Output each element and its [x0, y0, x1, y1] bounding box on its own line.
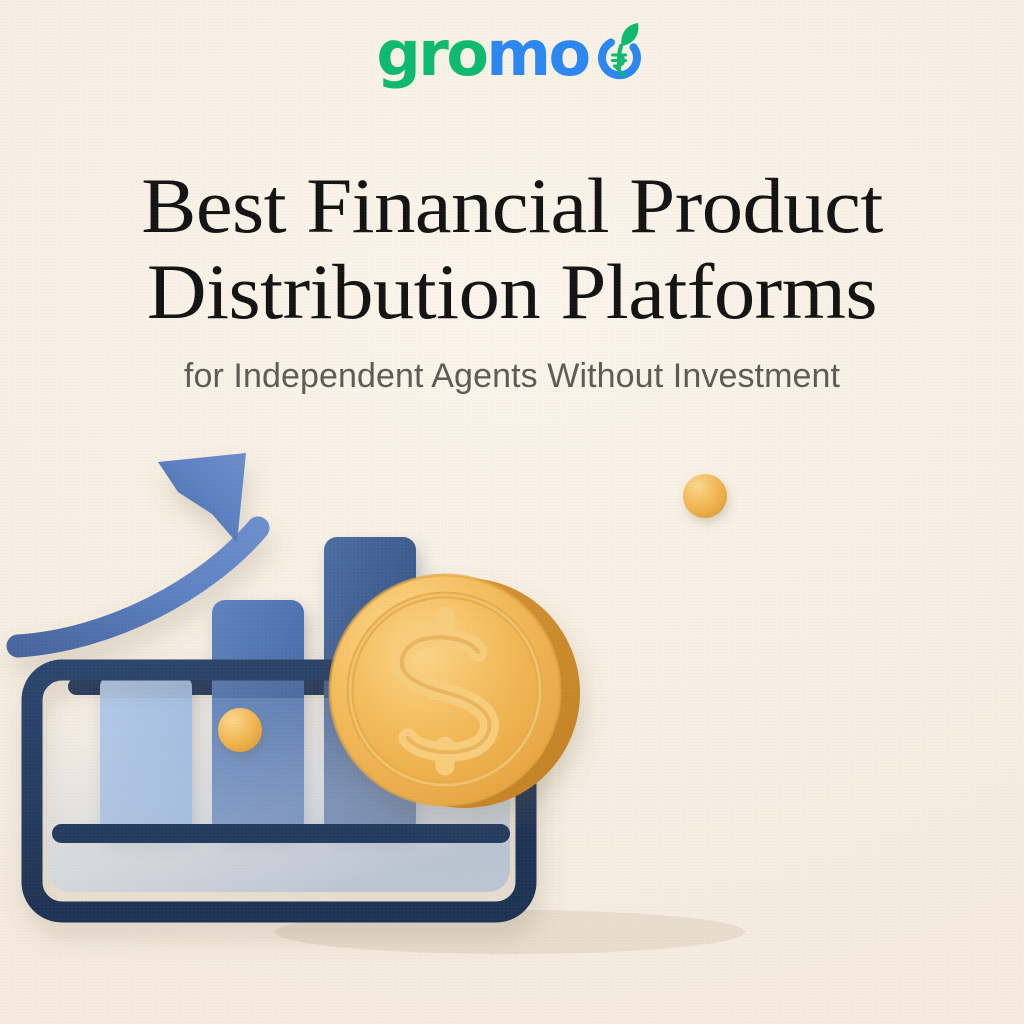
growth-chart-with-coin-illustration — [0, 440, 1024, 980]
logo-text-mo: mo — [486, 23, 588, 85]
headline-line-2: Distribution Platforms — [0, 254, 1024, 330]
dollar-coin-icon — [330, 575, 580, 808]
chart-baseline-rail — [52, 824, 510, 843]
headline-line-1: Best Financial Product — [0, 168, 1024, 244]
poster-canvas: gro mo Best Financial Product Di — [0, 0, 1024, 1024]
leaf-rupee-sprout-icon — [590, 22, 648, 86]
page-title: Best Financial Product Distribution Plat… — [0, 168, 1024, 331]
accent-dot-left — [218, 708, 262, 752]
page-subtitle: for Independent Agents Without Investmen… — [0, 357, 1024, 396]
logo-text-gro: gro — [376, 23, 486, 85]
logo-lockup: gro mo — [376, 22, 647, 86]
accent-dot-right — [683, 474, 727, 518]
brand-logo[interactable]: gro mo — [0, 22, 1024, 86]
